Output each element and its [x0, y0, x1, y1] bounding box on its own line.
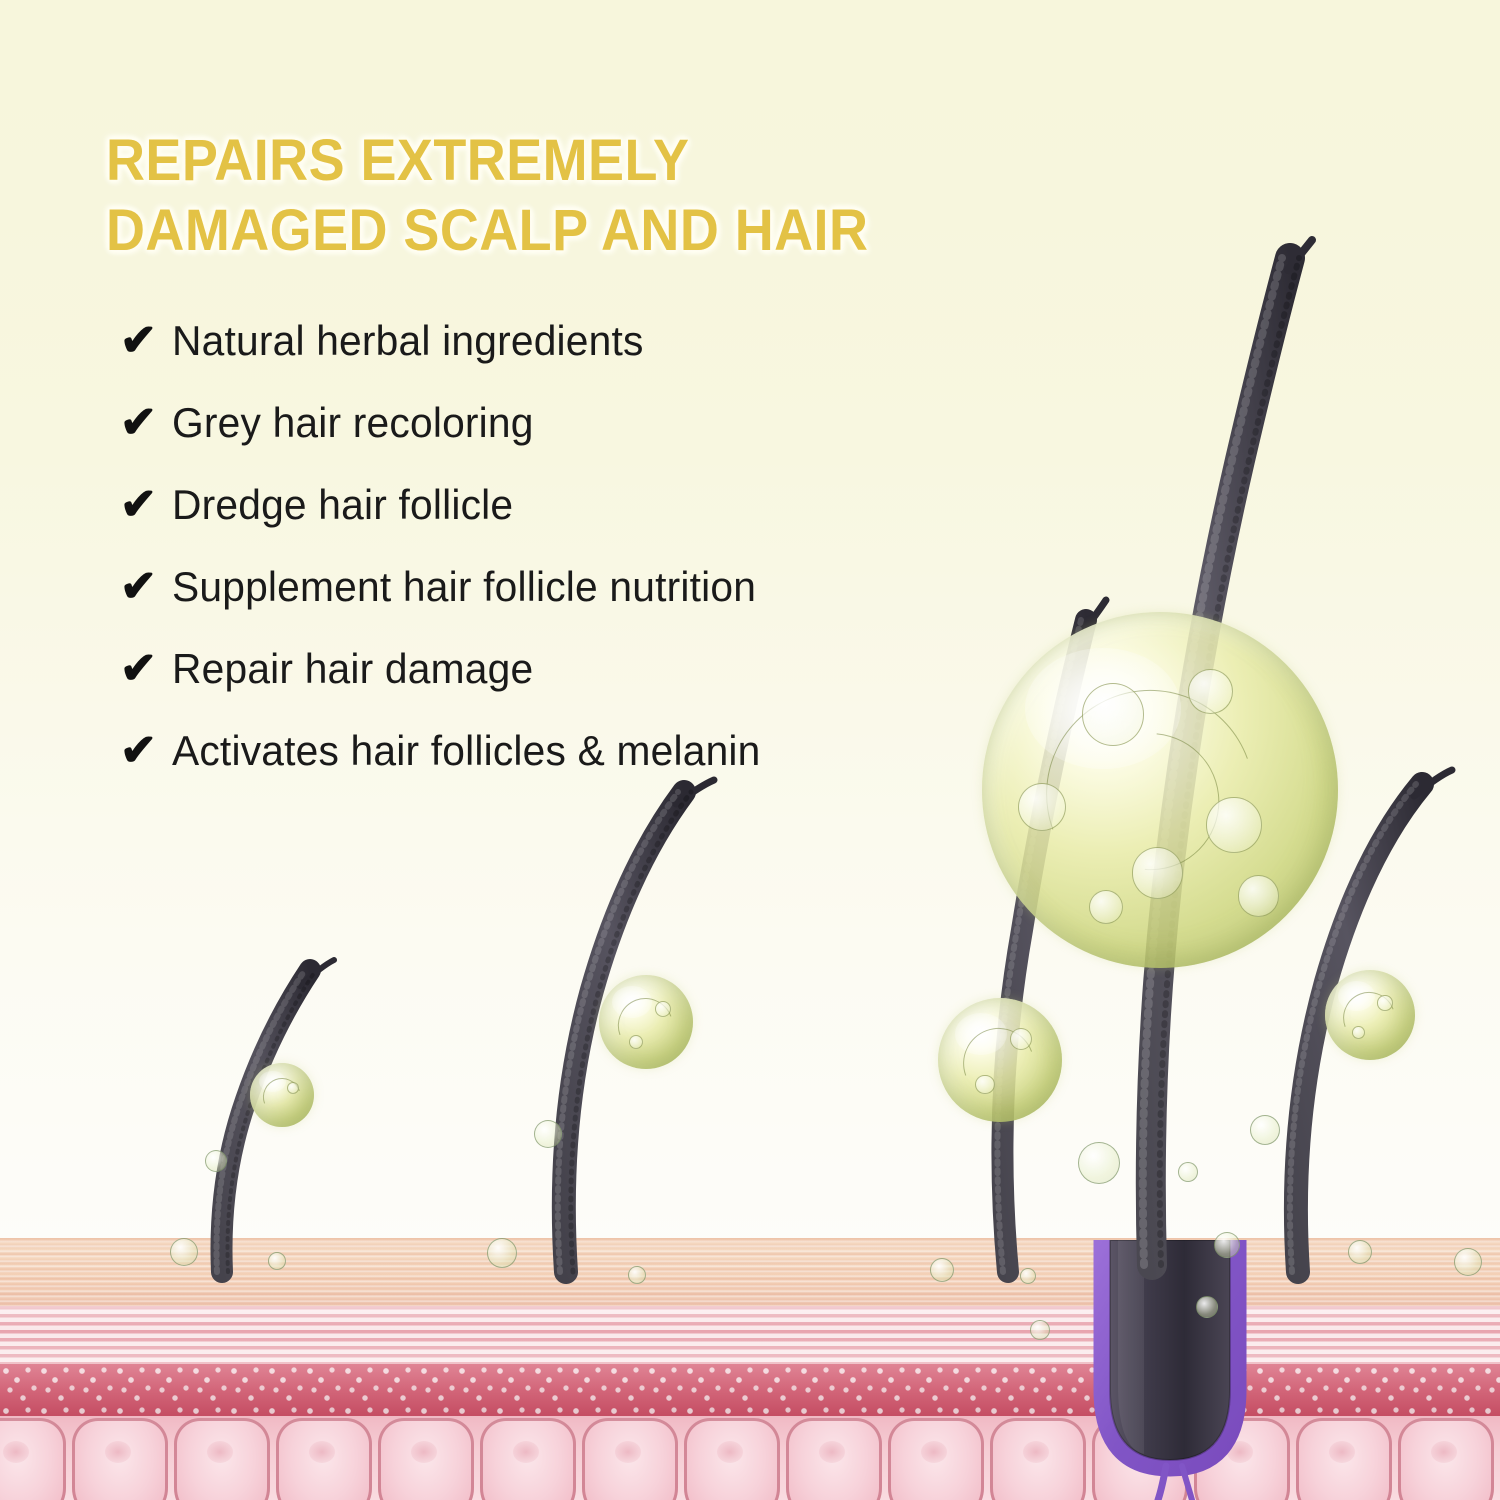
fat-cell	[174, 1418, 270, 1500]
headline-line-1: REPAIRS EXTREMELY	[106, 126, 943, 196]
oil-droplet-right-hair	[1325, 970, 1415, 1060]
benefit-label: Repair hair damage	[172, 646, 533, 692]
list-item: ✔ Supplement hair follicle nutrition	[120, 546, 1000, 628]
mini-oil-bubble	[1454, 1248, 1482, 1276]
benefit-label: Natural herbal ingredients	[172, 318, 644, 364]
oil-droplet-left-hair	[250, 1063, 314, 1127]
fat-cell	[888, 1418, 984, 1500]
mini-oil-bubble	[1250, 1115, 1280, 1145]
list-item: ✔ Activates hair follicles & melanin	[120, 710, 1000, 792]
headline-line-2: DAMAGED SCALP AND HAIR	[106, 196, 943, 266]
mini-oil-bubble	[1214, 1232, 1240, 1258]
mini-oil-bubble	[534, 1120, 562, 1148]
mini-oil-bubble	[628, 1266, 646, 1284]
fat-cell	[276, 1418, 372, 1500]
oil-droplet-main	[982, 612, 1338, 968]
benefit-label: Grey hair recoloring	[172, 400, 534, 446]
check-icon: ✔	[120, 483, 172, 527]
fat-cell	[480, 1418, 576, 1500]
mini-oil-bubble	[1178, 1162, 1198, 1182]
fat-cell	[684, 1418, 780, 1500]
mini-oil-bubble	[1196, 1296, 1218, 1318]
benefit-label: Supplement hair follicle nutrition	[172, 564, 756, 610]
fat-cell	[72, 1418, 168, 1500]
check-icon: ✔	[120, 319, 172, 363]
mini-oil-bubble	[1348, 1240, 1372, 1264]
page-title: REPAIRS EXTREMELY DAMAGED SCALP AND HAIR	[106, 126, 1006, 266]
benefit-label: Dredge hair follicle	[172, 482, 513, 528]
mini-oil-bubble	[930, 1258, 954, 1282]
check-icon: ✔	[120, 647, 172, 691]
fat-cell	[786, 1418, 882, 1500]
oil-droplet-center-left	[938, 998, 1062, 1122]
list-item: ✔ Natural herbal ingredients	[120, 300, 1000, 382]
check-icon: ✔	[120, 401, 172, 445]
fat-cell	[1296, 1418, 1392, 1500]
mini-oil-bubble	[1078, 1142, 1120, 1184]
product-benefit-poster: REPAIRS EXTREMELY DAMAGED SCALP AND HAIR…	[0, 0, 1500, 1500]
list-item: ✔ Dredge hair follicle	[120, 464, 1000, 546]
benefits-list: ✔ Natural herbal ingredients ✔ Grey hair…	[120, 300, 1000, 792]
oil-droplet-middle-hair	[599, 975, 693, 1069]
fat-cell	[1398, 1418, 1494, 1500]
mini-oil-bubble	[1030, 1320, 1050, 1340]
mini-oil-bubble	[170, 1238, 198, 1266]
mini-oil-bubble	[205, 1150, 227, 1172]
mini-oil-bubble	[1020, 1268, 1036, 1284]
fat-cell	[0, 1418, 66, 1500]
check-icon: ✔	[120, 729, 172, 773]
list-item: ✔ Repair hair damage	[120, 628, 1000, 710]
fat-cell	[378, 1418, 474, 1500]
mini-oil-bubble	[487, 1238, 517, 1268]
list-item: ✔ Grey hair recoloring	[120, 382, 1000, 464]
mini-oil-bubble	[268, 1252, 286, 1270]
check-icon: ✔	[120, 565, 172, 609]
benefit-label: Activates hair follicles & melanin	[172, 728, 761, 774]
fat-cell	[582, 1418, 678, 1500]
